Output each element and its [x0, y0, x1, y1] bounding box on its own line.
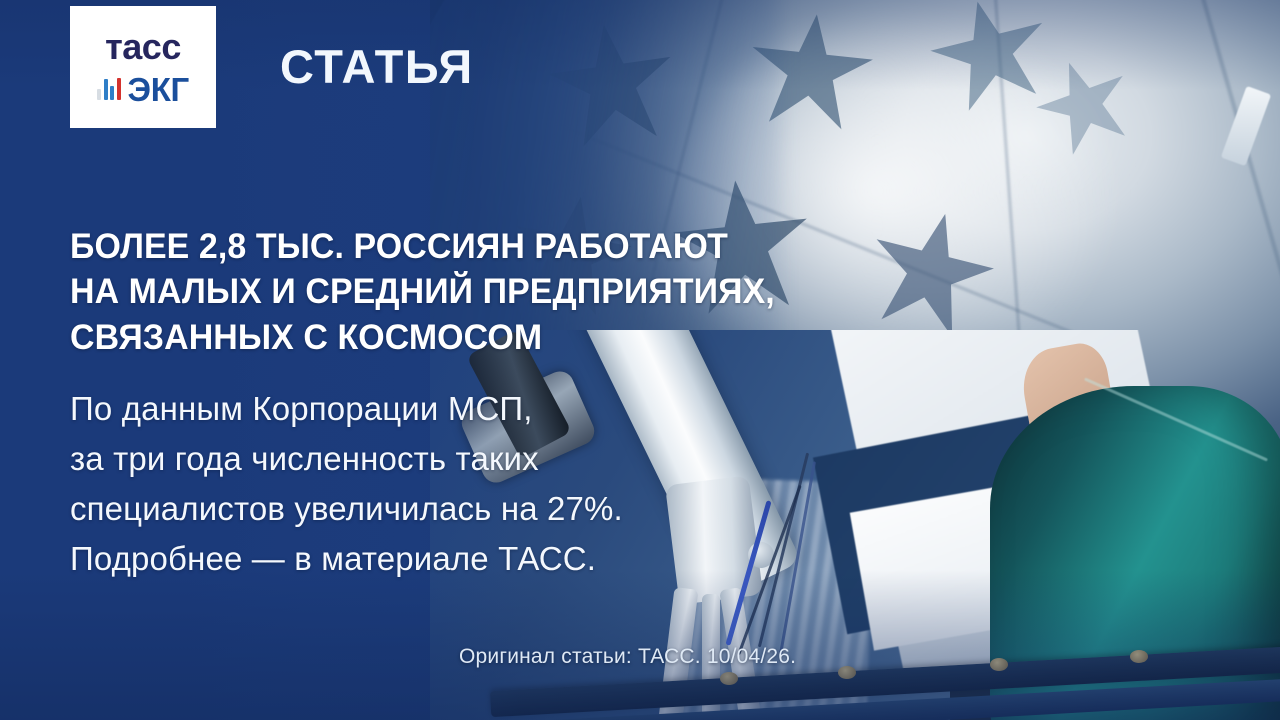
- slide-content: тасс ЭКГ СТАТЬЯ БОЛЕЕ 2,8 ТЫС. РОССИЯН Р…: [0, 0, 1280, 720]
- headline-line: СВЯЗАННЫХ С КОСМОСОМ: [70, 315, 824, 360]
- headline: БОЛЕЕ 2,8 ТЫС. РОССИЯН РАБОТАЮТ НА МАЛЫХ…: [70, 224, 824, 360]
- logo-second-row: ЭКГ: [97, 73, 189, 106]
- bar-chart-icon: [97, 78, 121, 100]
- tass-ekg-logo[interactable]: тасс ЭКГ: [70, 6, 216, 128]
- body-line: специалистов увеличилась на 27%.: [70, 484, 790, 534]
- logo-ekg-text: ЭКГ: [128, 73, 189, 106]
- slide-root: тасс ЭКГ СТАТЬЯ БОЛЕЕ 2,8 ТЫС. РОССИЯН Р…: [0, 0, 1280, 720]
- body-line: По данным Корпорации МСП,: [70, 384, 790, 434]
- headline-line: БОЛЕЕ 2,8 ТЫС. РОССИЯН РАБОТАЮТ: [70, 224, 824, 269]
- logo-tass-text: тасс: [105, 29, 181, 65]
- source-note: Оригинал статьи: ТАСС. 10/04/26.: [459, 645, 796, 669]
- body-line: за три года численность таких: [70, 434, 790, 484]
- headline-line: НА МАЛЫХ И СРЕДНИЙ ПРЕДПРИЯТИЯХ,: [70, 269, 824, 314]
- page-kicker: СТАТЬЯ: [280, 43, 474, 90]
- body-line: Подробнее — в материале ТАСС.: [70, 534, 790, 584]
- body-text: По данным Корпорации МСП, за три года чи…: [70, 384, 790, 585]
